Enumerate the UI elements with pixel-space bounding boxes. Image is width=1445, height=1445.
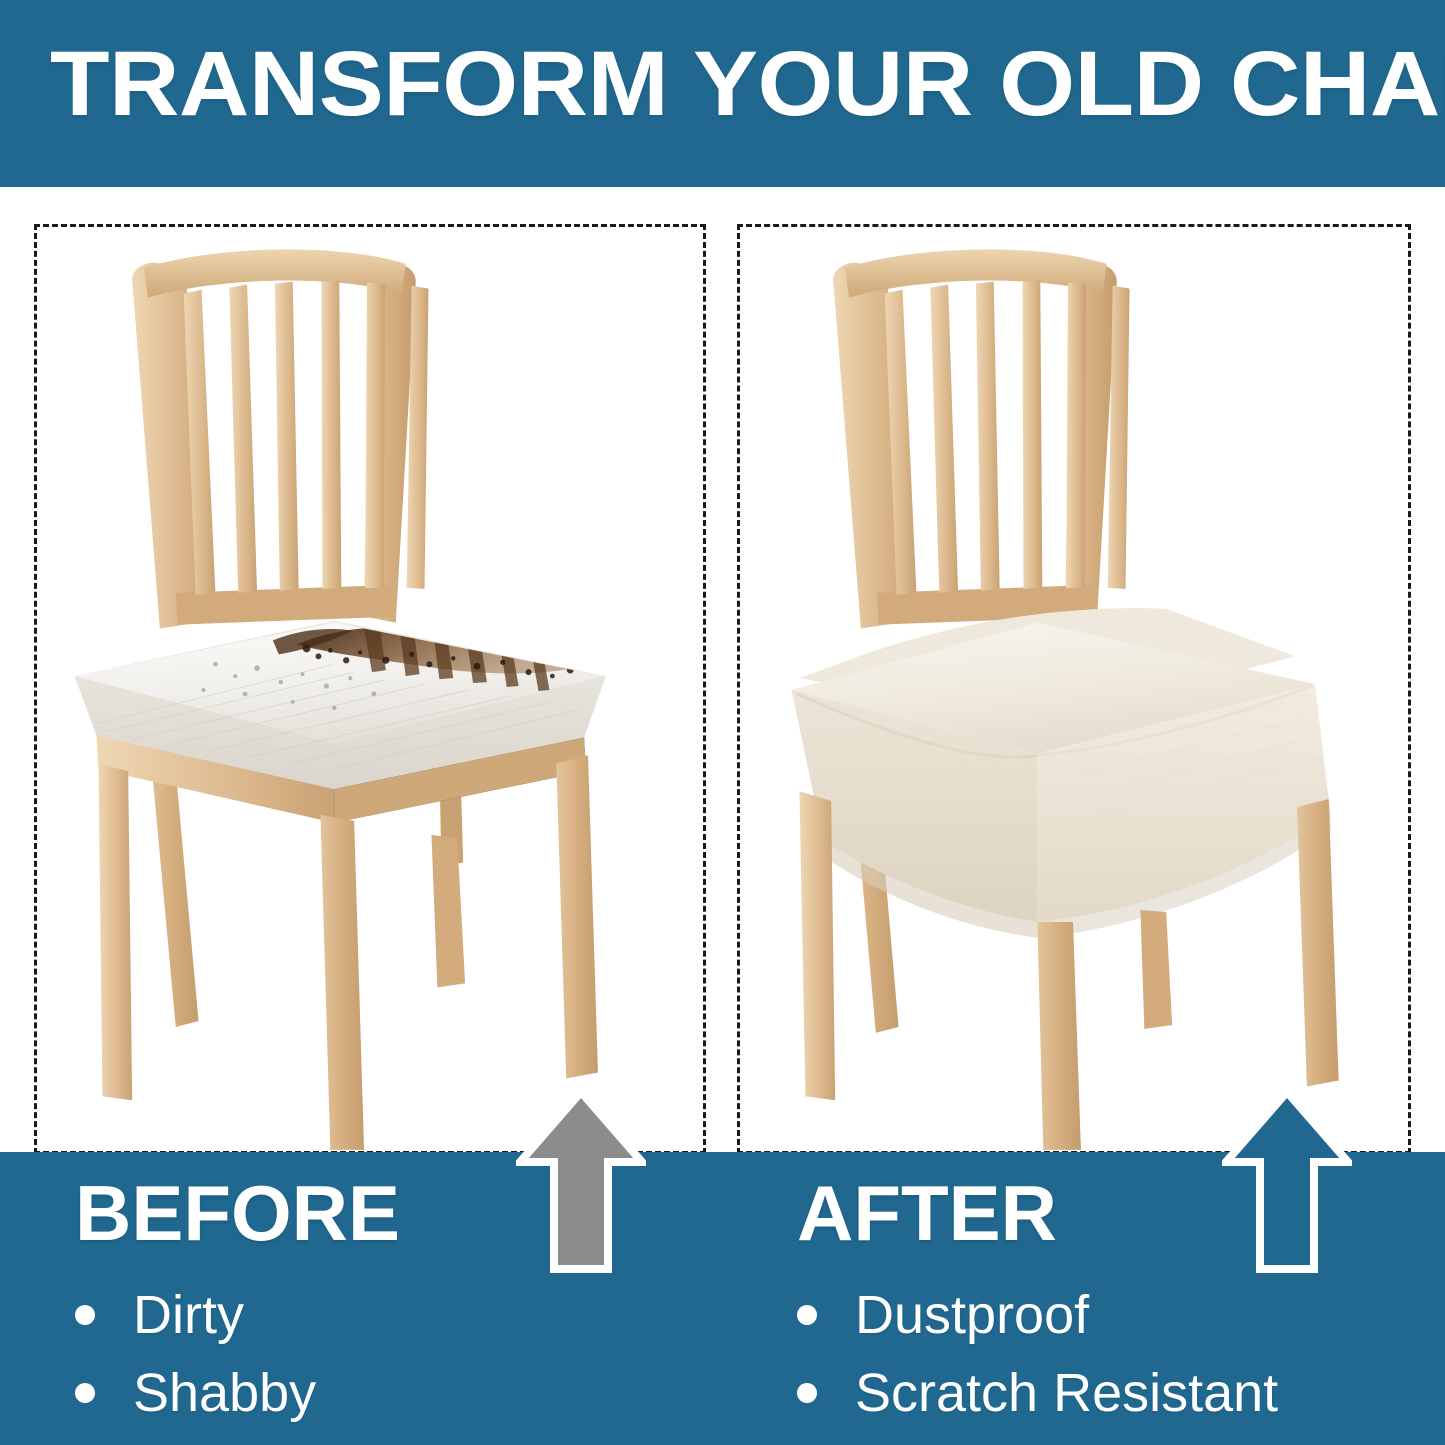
after-chair-image (740, 227, 1408, 1151)
arrow-up-icon (516, 1088, 646, 1273)
chair-illustration-covered (740, 227, 1408, 1151)
bullet-dot-icon (75, 1383, 95, 1403)
before-chair-image (37, 227, 703, 1151)
promo-image: TRANSFORM YOUR OLD CHAIR (0, 0, 1445, 1445)
after-up-arrow-icon (1222, 1088, 1352, 1273)
bullet-label: Shabby (133, 1363, 316, 1423)
chair-illustration-dirty (37, 227, 703, 1151)
before-heading: BEFORE (75, 1174, 400, 1252)
before-bullet-list: Dirty Shabby (75, 1280, 316, 1436)
list-item: Shabby (75, 1358, 316, 1428)
bullet-dot-icon (797, 1383, 817, 1403)
arrow-up-icon (1222, 1088, 1352, 1273)
bullet-label: Dirty (133, 1285, 244, 1345)
list-item: Dirty (75, 1280, 316, 1350)
page-title: TRANSFORM YOUR OLD CHAIR (50, 38, 1445, 130)
header-banner: TRANSFORM YOUR OLD CHAIR (0, 0, 1445, 187)
bullet-dot-icon (75, 1305, 95, 1325)
list-item: Scratch Resistant (797, 1358, 1278, 1428)
bullet-label: Dustproof (855, 1285, 1089, 1345)
bullet-label: Scratch Resistant (855, 1363, 1278, 1423)
after-bullet-list: Dustproof Scratch Resistant (797, 1280, 1278, 1436)
before-panel (34, 224, 706, 1154)
list-item: Dustproof (797, 1280, 1278, 1350)
after-panel (737, 224, 1411, 1154)
before-up-arrow-icon (516, 1088, 646, 1273)
after-heading: AFTER (797, 1174, 1057, 1252)
bullet-dot-icon (797, 1305, 817, 1325)
